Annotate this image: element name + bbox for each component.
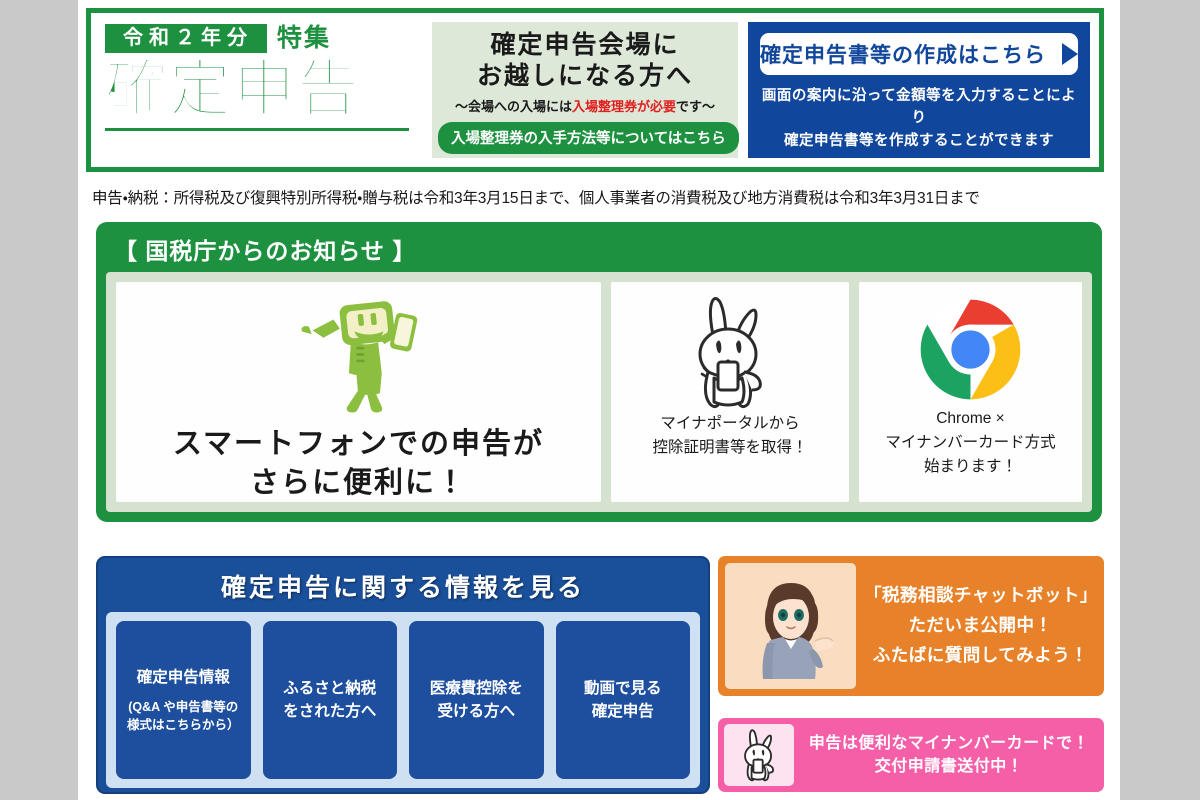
rabbit-smartphone-icon	[674, 292, 786, 412]
venue-line2: お越しになる方へ	[438, 61, 732, 92]
chatbot-text: 「税務相談チャットボット」 ただいま公開中！ ふたばに質問してみよう！	[864, 563, 1097, 689]
hero-banner: 令和２年分 特集 確定申告 確定申告会場に お越しになる方へ ～会場への入場には…	[86, 8, 1104, 172]
cr-caption-line1: Chrome ×	[885, 407, 1055, 431]
create-sub-line1: 画面の案内に沿って金額等を入力することにより	[760, 85, 1078, 130]
chatbot-illustration	[725, 563, 856, 689]
chatbot-line2: ただいま公開中！	[909, 611, 1053, 641]
chatbot-line3: ふたばに質問してみよう！	[873, 641, 1088, 671]
notice-card-chrome-caption: Chrome × マイナンバーカード方式 始まります！	[885, 407, 1055, 479]
declaration-info-tiles: 確定申告情報 (Q&A や申告書等の 様式はこちらから） ふるさと納税 をされた…	[106, 612, 700, 788]
declaration-info-panel: 確定申告に関する情報を見る 確定申告情報 (Q&A や申告書等の 様式はこちらか…	[96, 556, 710, 794]
female-advisor-icon	[745, 571, 837, 681]
create-declaration-sub: 画面の案内に沿って金額等を入力することにより 確定申告書等を作成することができま…	[760, 85, 1078, 152]
mn-caption-line1: マイナポータルから	[652, 412, 807, 436]
tile3-line2: 確定申告	[592, 700, 654, 723]
tile-declaration-info-label: 確定申告情報	[137, 666, 230, 689]
page-title: 確定申告	[105, 57, 426, 122]
create-declaration-label: 確定申告書等の作成はこちら	[760, 39, 1046, 69]
deadline-notice: 申告・納税：所得税及び復興特別所得税・贈与税は令和3年3月15日まで、個人事業者…	[92, 186, 1106, 208]
tile2-line1: 医療費控除を	[430, 677, 523, 700]
entry-ticket-button[interactable]: 入場整理券の入手方法等についてはこちら	[438, 122, 739, 154]
pink-banner-illustration	[724, 724, 794, 786]
chatbot-banner[interactable]: 「税務相談チャットボット」 ただいま公開中！ ふたばに質問してみよう！	[718, 556, 1104, 696]
tile0-sub-line1: (Q&A や申告書等の	[127, 698, 240, 716]
mynumber-card-banner[interactable]: 申告は便利なマイナンバーカードで！ 交付申請書送付中！	[718, 718, 1104, 792]
pink-line2: 交付申請書送付中！	[875, 755, 1024, 778]
page-content: 令和２年分 特集 確定申告 確定申告会場に お越しになる方へ ～会場への入場には…	[78, 0, 1120, 800]
tile-declaration-info-sub: (Q&A や申告書等の 様式はこちらから）	[127, 698, 240, 734]
notice-card-chrome[interactable]: Chrome × マイナンバーカード方式 始まります！	[859, 282, 1082, 502]
tile-furusato-tax[interactable]: ふるさと納税 をされた方へ	[263, 621, 398, 779]
create-sub-line2: 確定申告書等を作成することができます	[760, 130, 1078, 152]
tax-mascot-smartphone-icon	[284, 294, 434, 421]
venue-notice-card: 確定申告会場に お越しになる方へ ～会場への入場には入場整理券が必要です～ 入場…	[432, 22, 738, 158]
chatbot-line1: 「税務相談チャットボット」	[864, 581, 1097, 611]
nta-notice-cards: スマートフォンでの申告が さらに便利に！	[106, 272, 1092, 512]
create-declaration-button[interactable]: 確定申告書等の作成はこちら	[760, 33, 1078, 75]
sp-caption-line1: スマートフォンでの申告が	[173, 425, 544, 463]
tile3-line1: 動画で見る	[584, 677, 662, 700]
declaration-info-title: 確定申告に関する情報を見る	[106, 564, 700, 612]
notice-card-smartphone[interactable]: スマートフォンでの申告が さらに便利に！	[116, 282, 601, 502]
pink-banner-text: 申告は便利なマイナンバーカードで！ 交付申請書送付中！	[800, 724, 1098, 786]
venue-sub-pre: ～会場への入場には	[455, 99, 572, 114]
rabbit-smartphone-icon	[733, 724, 785, 786]
cr-caption-line3: 始まります！	[885, 455, 1055, 479]
notice-card-mynaportal[interactable]: マイナポータルから 控除証明書等を取得！	[611, 282, 849, 502]
venue-line1: 確定申告会場に	[438, 30, 732, 61]
tile-declaration-info[interactable]: 確定申告情報 (Q&A や申告書等の 様式はこちらから）	[116, 621, 251, 779]
nta-notice-title: 【 国税庁からのお知らせ 】	[106, 230, 1092, 272]
tile1-line1: ふるさと納税	[283, 677, 376, 700]
play-triangle-icon	[1062, 43, 1078, 65]
title-underline	[105, 128, 409, 131]
era-row: 令和２年分 特集	[105, 21, 426, 55]
nta-notice-section: 【 国税庁からのお知らせ 】	[96, 222, 1102, 522]
tile-video-guide[interactable]: 動画で見る 確定申告	[556, 621, 691, 779]
tile0-sub-line2: 様式はこちらから）	[127, 716, 240, 734]
cr-caption-line2: マイナンバーカード方式	[885, 431, 1055, 455]
pink-line1: 申告は便利なマイナンバーカードで！	[809, 732, 1089, 755]
tile-medical-deduction[interactable]: 医療費控除を 受ける方へ	[409, 621, 544, 779]
tile2-line2: 受ける方へ	[437, 700, 515, 723]
venue-subtext: ～会場への入場には入場整理券が必要です～	[438, 96, 732, 115]
notice-card-smartphone-caption: スマートフォンでの申告が さらに便利に！	[173, 425, 544, 502]
notice-card-mynaportal-caption: マイナポータルから 控除証明書等を取得！	[652, 412, 807, 460]
chrome-logo-icon	[913, 292, 1028, 407]
venue-sub-highlight: 入場整理券が必要	[572, 99, 676, 114]
era-chip: 令和２年分	[105, 24, 267, 53]
sp-caption-line2: さらに便利に！	[173, 464, 544, 502]
tile1-line2: をされた方へ	[283, 700, 376, 723]
hero-title-block: 令和２年分 特集 確定申告	[91, 13, 426, 167]
create-declaration-block: 確定申告書等の作成はこちら 画面の案内に沿って金額等を入力することにより 確定申…	[748, 22, 1090, 158]
mn-caption-line2: 控除証明書等を取得！	[652, 436, 807, 460]
venue-sub-post: です～	[676, 99, 715, 114]
feature-label: 特集	[277, 26, 331, 51]
